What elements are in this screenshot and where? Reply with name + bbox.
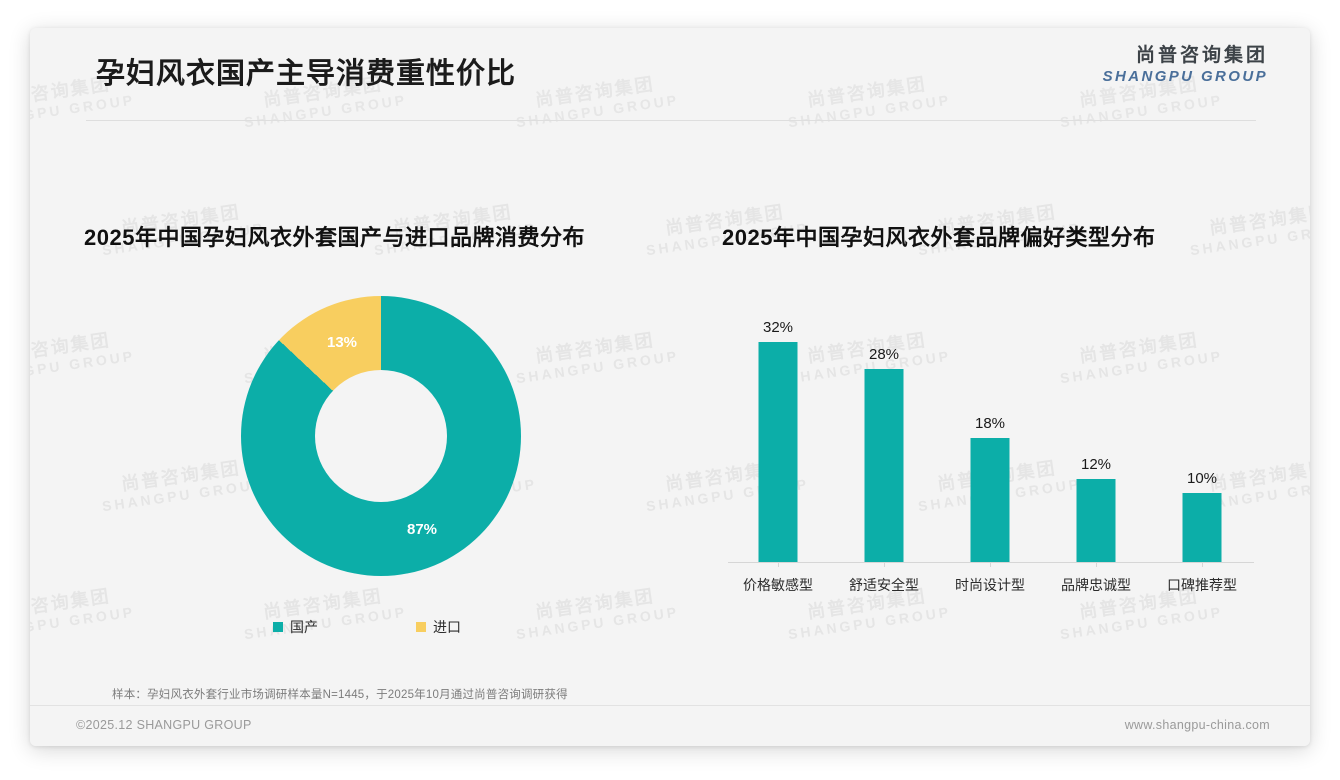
bar-category-label: 舒适安全型 xyxy=(824,575,944,595)
pie-chart-title: 2025年中国孕妇风衣外套国产与进口品牌消费分布 xyxy=(84,220,585,252)
copyright-text: ©2025.12 SHANGPU GROUP xyxy=(76,718,252,732)
bar-rect[interactable] xyxy=(1183,493,1222,562)
website-url[interactable]: www.shangpu-china.com xyxy=(1125,718,1270,732)
bar-value-label: 32% xyxy=(763,319,793,336)
slide-footer: ©2025.12 SHANGPU GROUP www.shangpu-china… xyxy=(30,706,1310,746)
bar-category-label: 品牌忠诚型 xyxy=(1036,575,1156,595)
legend-swatch-domestic xyxy=(273,622,283,632)
legend-item-domestic[interactable]: 国产 xyxy=(273,617,318,637)
axis-tick xyxy=(884,562,885,567)
legend-swatch-import xyxy=(416,622,426,632)
bar-column[interactable]: 28% xyxy=(834,290,934,562)
bar-rect[interactable] xyxy=(1077,479,1116,562)
bar-value-label: 12% xyxy=(1081,456,1111,473)
sample-footnote: 样本：孕妇风衣外套行业市场调研样本量N=1445，于2025年10月通过尚普咨询… xyxy=(112,686,568,702)
bar-category-label: 口碑推荐型 xyxy=(1142,575,1262,595)
legend-label-domestic: 国产 xyxy=(290,617,318,637)
axis-tick xyxy=(778,562,779,567)
bar-chart-title: 2025年中国孕妇风衣外套品牌偏好类型分布 xyxy=(722,220,1155,252)
bar-category-label: 时尚设计型 xyxy=(930,575,1050,595)
legend-label-import: 进口 xyxy=(433,617,461,637)
slide-header: 孕妇风衣国产主导消费重性价比 尚普咨询集团 SHANGPU GROUP xyxy=(30,28,1310,120)
axis-tick xyxy=(1202,562,1203,567)
header-divider xyxy=(86,120,1256,121)
bar-rect[interactable] xyxy=(759,342,798,562)
brand-name-en: SHANGPU GROUP xyxy=(1103,68,1268,86)
bar-value-label: 10% xyxy=(1187,470,1217,487)
donut-slice-label-domestic: 87% xyxy=(407,521,437,538)
donut-chart: 13% 87% xyxy=(241,296,521,576)
bar-column[interactable]: 10% xyxy=(1152,290,1252,562)
donut-slice-label-import: 13% xyxy=(327,334,357,351)
page-title: 孕妇风衣国产主导消费重性价比 xyxy=(96,50,516,92)
bar-rect[interactable] xyxy=(865,369,904,562)
brand-name-cn: 尚普咨询集团 xyxy=(1103,44,1268,68)
axis-tick xyxy=(990,562,991,567)
bar-category-label: 价格敏感型 xyxy=(718,575,838,595)
slide-card: 尚普咨询集团SHANGPU GROUP尚普咨询集团SHANGPU GROUP尚普… xyxy=(30,28,1310,746)
legend-item-import[interactable]: 进口 xyxy=(416,617,461,637)
bar-column[interactable]: 18% xyxy=(940,290,1040,562)
pie-chart-legend: 国产 进口 xyxy=(273,617,573,639)
donut-hole xyxy=(315,370,447,502)
bar-chart-axis-line xyxy=(728,562,1254,563)
brand-logo: 尚普咨询集团 SHANGPU GROUP xyxy=(1103,44,1268,86)
charts-area: 2025年中国孕妇风衣外套国产与进口品牌消费分布 13% 87% 国产 进口 2… xyxy=(30,28,1310,746)
bar-chart: 32%28%18%12%10% 价格敏感型舒适安全型时尚设计型品牌忠诚型口碑推荐… xyxy=(722,290,1254,602)
bar-plot-area: 32%28%18%12%10% xyxy=(722,290,1254,562)
bar-value-label: 28% xyxy=(869,346,899,363)
bar-column[interactable]: 12% xyxy=(1046,290,1146,562)
axis-tick xyxy=(1096,562,1097,567)
bar-rect[interactable] xyxy=(971,438,1010,562)
bar-column[interactable]: 32% xyxy=(728,290,828,562)
bar-value-label: 18% xyxy=(975,415,1005,432)
